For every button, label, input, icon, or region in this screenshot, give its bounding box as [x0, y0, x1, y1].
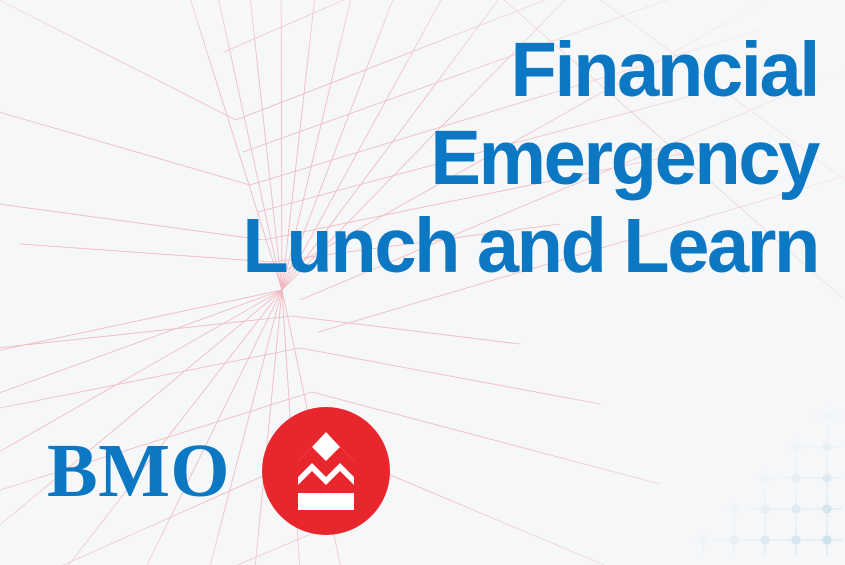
title-line-3: Lunch and Learn	[69, 202, 818, 290]
slide-canvas: Financial Emergency Lunch and Learn BMO	[0, 0, 845, 565]
page-title: Financial Emergency Lunch and Learn	[58, 26, 818, 290]
bmo-medallion-icon	[262, 407, 390, 535]
title-line-1: Financial	[69, 26, 818, 114]
bmo-logo-lockup: BMO	[47, 406, 390, 536]
title-line-2: Emergency	[69, 114, 818, 202]
bmo-wordmark: BMO	[47, 433, 230, 509]
